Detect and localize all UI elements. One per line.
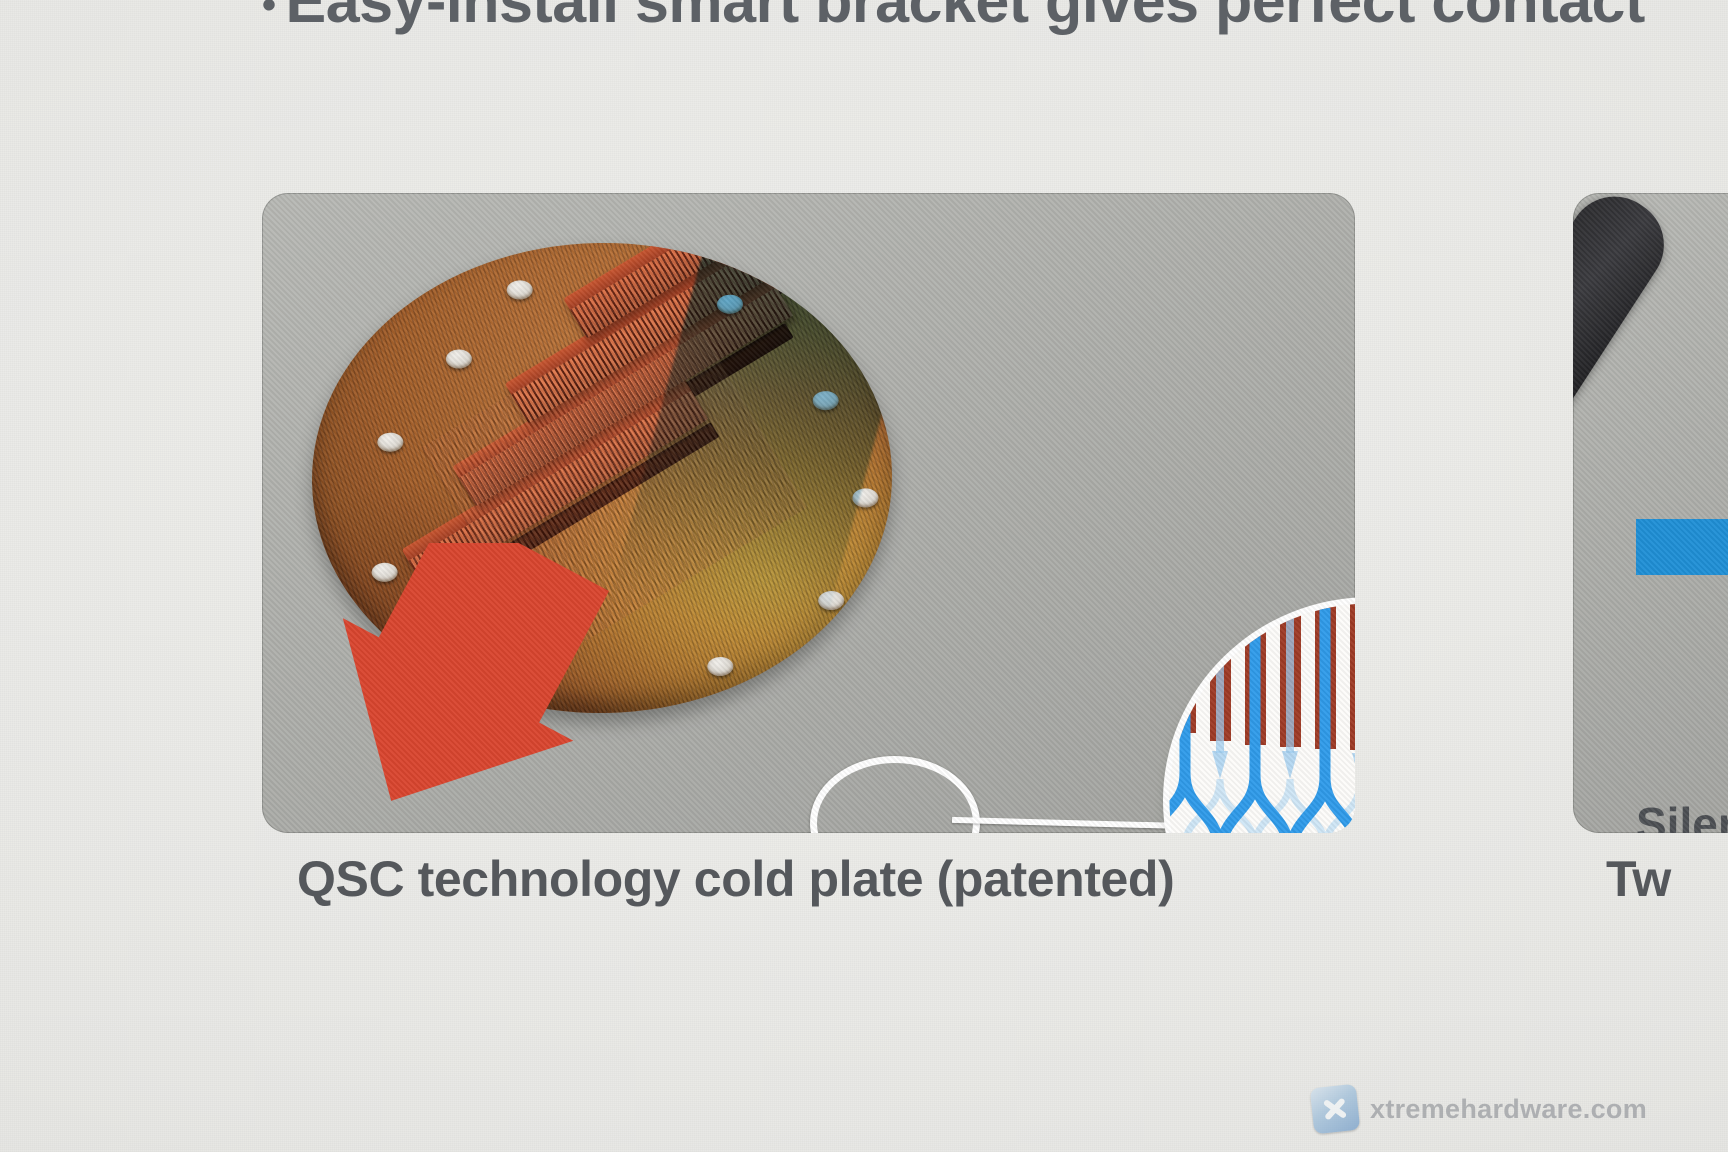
badge-tail — [1636, 519, 1728, 575]
callout-leader-line — [952, 817, 1187, 829]
x-logo-icon — [1310, 1084, 1361, 1135]
copper-disc — [308, 238, 896, 718]
feature-item-0: Silent — [1636, 797, 1728, 833]
badge-blob — [1722, 491, 1728, 603]
headline-label: Easy-install smart bracket gives perfect… — [286, 0, 1645, 35]
panel-qsc-cold-plate — [262, 193, 1355, 833]
watermark-text: xtremehardware.com — [1370, 1094, 1647, 1125]
watermark: xtremehardware.com — [1312, 1086, 1647, 1132]
coolant-flow-detail-circle — [1169, 603, 1355, 833]
cold-plate-illustration — [312, 243, 922, 743]
headline-text: •Easy-install smart bracket gives perfec… — [262, 0, 1728, 36]
feature-count-badge: 3 c — [1636, 491, 1728, 603]
bullet-icon: • — [262, 0, 276, 27]
coolant-tube — [1573, 193, 1682, 508]
caption-second-panel: Tw — [1606, 850, 1671, 908]
flow-diagram-svg — [1169, 603, 1355, 833]
panel-two-features: 3 c Silent Perfor OverC — [1573, 193, 1728, 833]
caption-cold-plate: QSC technology cold plate (patented) — [297, 850, 1174, 908]
